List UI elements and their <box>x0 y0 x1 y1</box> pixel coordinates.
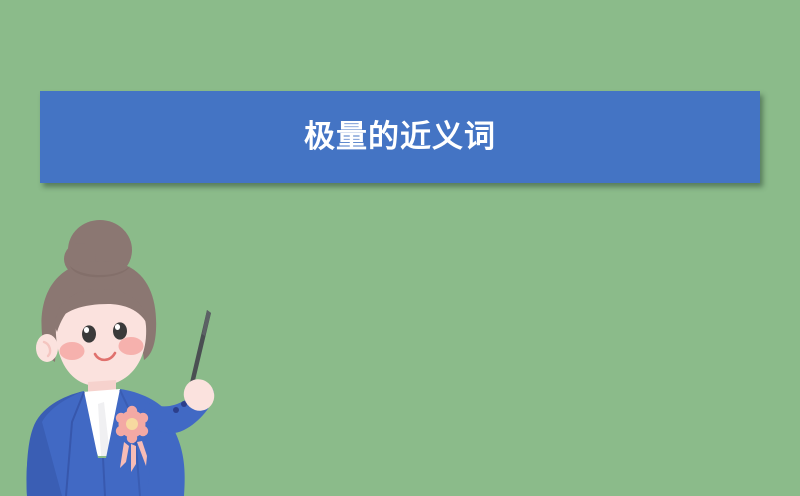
page-title: 极量的近义词 <box>304 121 496 152</box>
title-banner: 极量的近义词 <box>40 91 760 183</box>
teacher-illustration <box>0 206 250 496</box>
slide-canvas: 极量的近义词 <box>0 0 800 496</box>
ear <box>36 334 58 362</box>
teacher-illustration-svg <box>0 206 250 496</box>
